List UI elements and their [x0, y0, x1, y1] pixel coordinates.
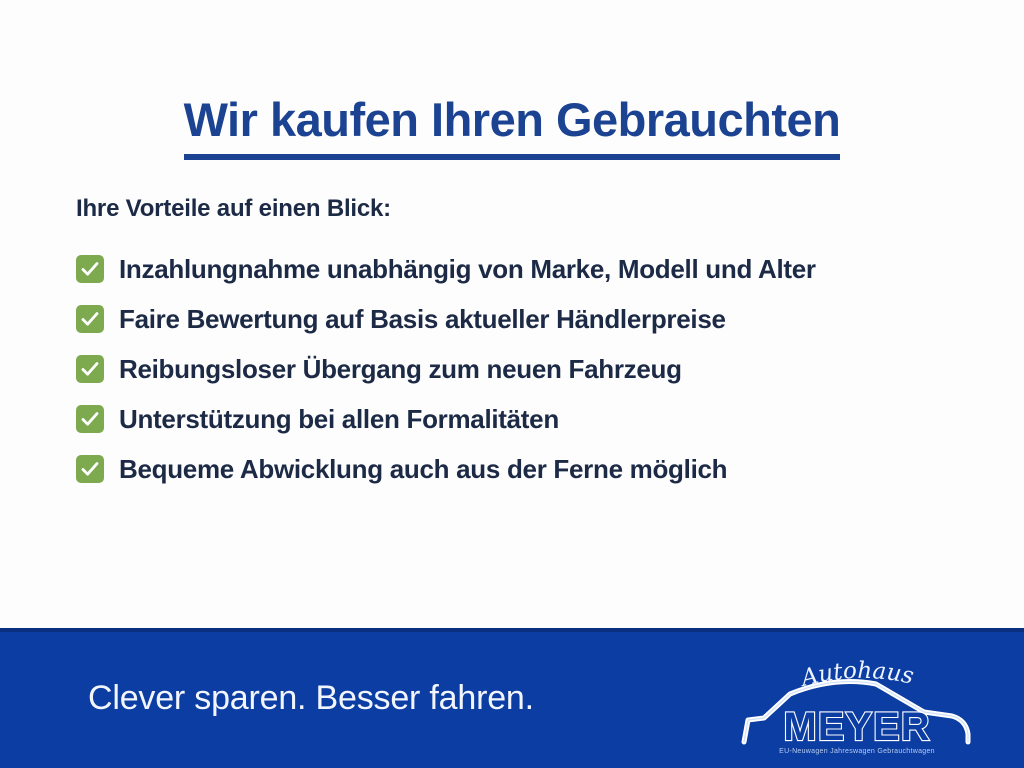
- list-item-label: Faire Bewertung auf Basis aktueller Händ…: [119, 305, 726, 334]
- benefits-section: Ihre Vorteile auf einen Blick: Inzahlung…: [76, 196, 976, 494]
- logo-subtitle-text: EU-Neuwagen Jahreswagen Gebrauchtwagen: [779, 748, 935, 755]
- check-icon: [76, 455, 104, 483]
- footer-tagline: Clever sparen. Besser fahren.: [88, 680, 534, 717]
- check-icon: [76, 405, 104, 433]
- page-title: Wir kaufen Ihren Gebrauchten: [184, 95, 841, 159]
- dealer-logo: Autohaus MEYER EU-Neuwagen Jahreswagen G…: [738, 654, 976, 758]
- check-icon: [76, 255, 104, 283]
- list-item-label: Inzahlungnahme unabhängig von Marke, Mod…: [119, 255, 816, 284]
- footer-bar: Clever sparen. Besser fahren. Autohaus M…: [0, 628, 1024, 768]
- list-item: Faire Bewertung auf Basis aktueller Händ…: [76, 294, 976, 344]
- list-item: Reibungsloser Übergang zum neuen Fahrzeu…: [76, 344, 976, 394]
- page-title-container: Wir kaufen Ihren Gebrauchten: [0, 64, 1024, 191]
- list-item-label: Bequeme Abwicklung auch aus der Ferne mö…: [119, 455, 727, 484]
- benefits-list: Inzahlungnahme unabhängig von Marke, Mod…: [76, 244, 976, 494]
- list-item: Inzahlungnahme unabhängig von Marke, Mod…: [76, 244, 976, 294]
- list-item: Unterstützung bei allen Formalitäten: [76, 394, 976, 444]
- slide-canvas: Wir kaufen Ihren Gebrauchten Ihre Vortei…: [0, 0, 1024, 768]
- check-icon: [76, 305, 104, 333]
- list-item-label: Reibungsloser Übergang zum neuen Fahrzeu…: [119, 355, 682, 384]
- check-icon: [76, 355, 104, 383]
- logo-word-text: MEYER: [783, 705, 930, 749]
- list-item-label: Unterstützung bei allen Formalitäten: [119, 405, 559, 434]
- benefits-heading: Ihre Vorteile auf einen Blick:: [76, 196, 976, 222]
- list-item: Bequeme Abwicklung auch aus der Ferne mö…: [76, 444, 976, 494]
